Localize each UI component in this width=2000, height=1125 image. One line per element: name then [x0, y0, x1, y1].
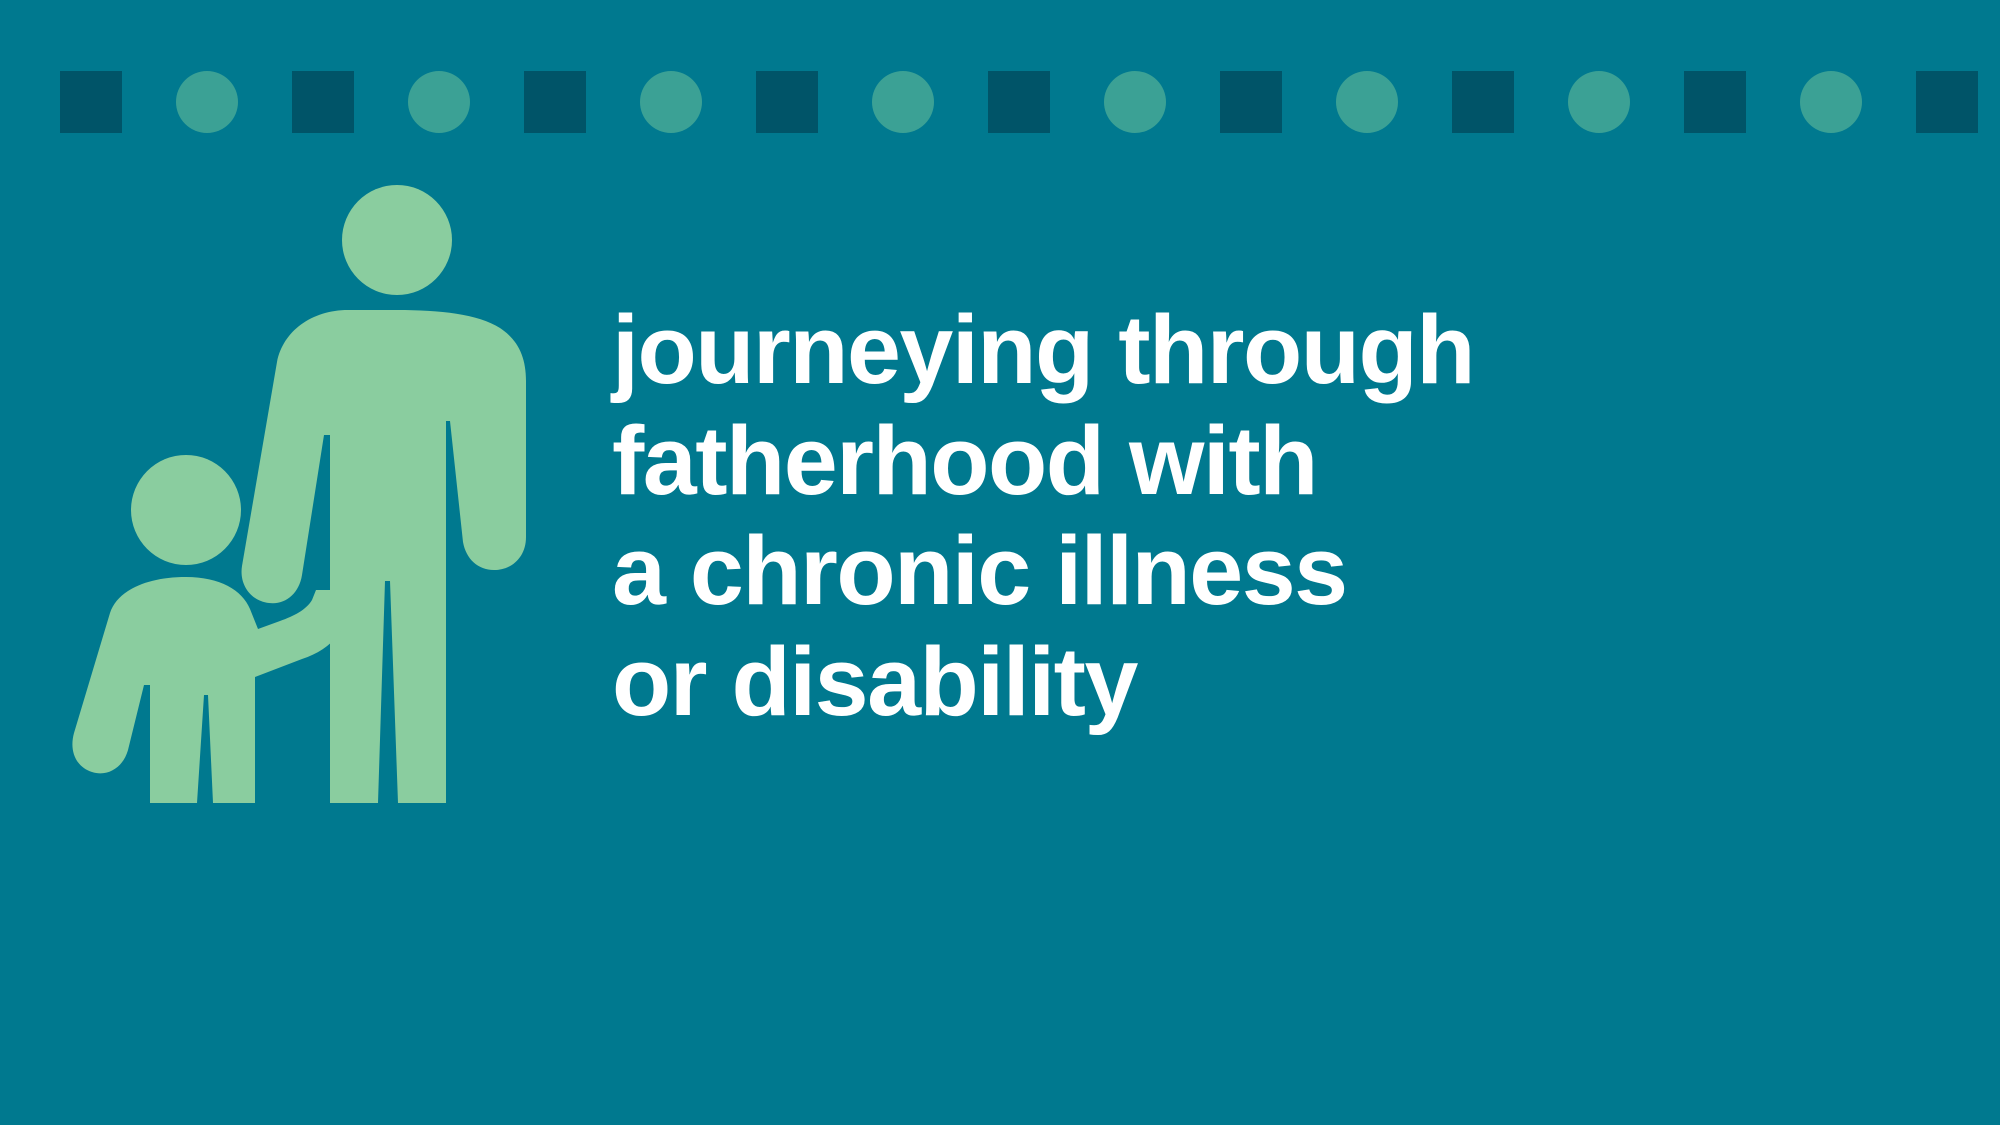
deco-circle-8 — [1800, 71, 1862, 133]
deco-square-1 — [60, 71, 122, 133]
child-head — [131, 455, 241, 565]
deco-square-2 — [292, 71, 354, 133]
headline-line-3: a chronic illness — [612, 516, 1792, 627]
deco-square-8 — [1684, 71, 1746, 133]
decorative-shape-band — [60, 71, 1940, 133]
adult-and-child-pictogram-icon — [80, 185, 550, 815]
deco-square-4 — [756, 71, 818, 133]
deco-square-6 — [1220, 71, 1282, 133]
deco-circle-7 — [1568, 71, 1630, 133]
headline-line-2: fatherhood with — [612, 406, 1792, 517]
deco-circle-6 — [1336, 71, 1398, 133]
deco-circle-3 — [640, 71, 702, 133]
promotional-banner: journeying through fatherhood with a chr… — [0, 0, 2000, 1125]
headline-line-4: or disability — [612, 627, 1792, 738]
deco-square-5 — [988, 71, 1050, 133]
page-title: journeying through fatherhood with a chr… — [612, 295, 1792, 737]
deco-circle-2 — [408, 71, 470, 133]
adult-body — [242, 310, 526, 803]
child-body — [72, 577, 352, 803]
adult-head — [342, 185, 452, 295]
headline-line-1: journeying through — [612, 295, 1792, 406]
deco-square-7 — [1452, 71, 1514, 133]
deco-square-9 — [1916, 71, 1978, 133]
deco-circle-5 — [1104, 71, 1166, 133]
deco-circle-1 — [176, 71, 238, 133]
deco-square-3 — [524, 71, 586, 133]
deco-circle-4 — [872, 71, 934, 133]
